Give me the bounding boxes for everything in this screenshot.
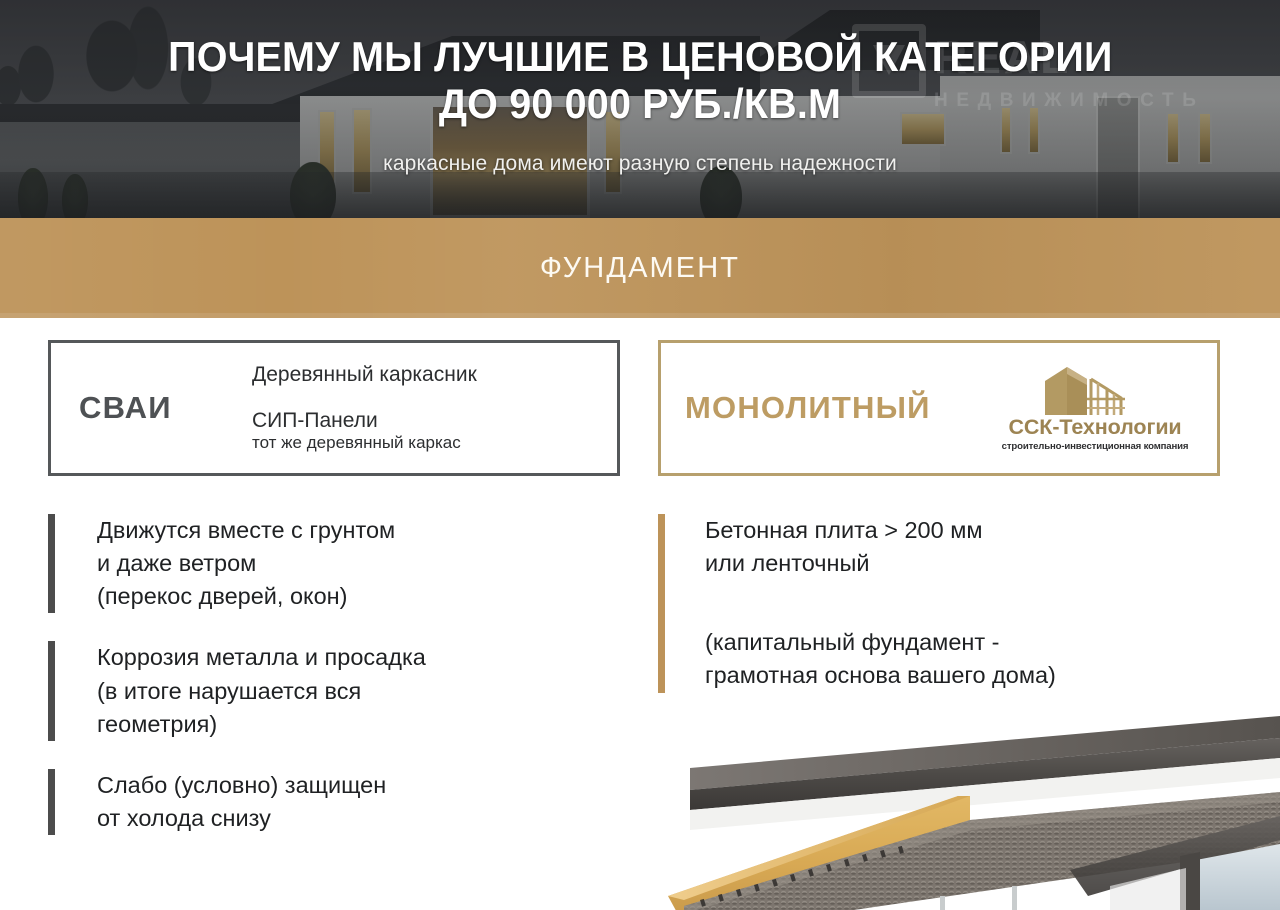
section-band-foundation: ФУНДАМЕНТ [0,218,1280,318]
list-item: Коррозия металла и просадка (в итоге нар… [48,641,620,740]
building-icon [1041,365,1129,415]
piles-header-box: СВАИ Деревянный каркасник СИП-Панели тот… [48,340,620,476]
monolithic-header-box: МОНОЛИТНЫЙ [658,340,1220,476]
piles-bullet-text: Движутся вместе с грунтом и даже ветром … [97,514,395,613]
company-logo-name: ССК-Технологии [989,415,1201,440]
bullet-bar-icon [48,641,55,740]
bullet-bar-icon [48,514,55,613]
piles-bullet-list: Движутся вместе с грунтом и даже ветром … [48,514,620,863]
company-logo-tagline: строительно-инвестиционная компания [989,441,1201,452]
list-item: Движутся вместе с грунтом и даже ветром … [48,514,620,613]
piles-title: СВАИ [79,390,244,426]
monolithic-bullet-text: Бетонная плита > 200 мм или ленточный [705,514,1056,580]
list-item: Слабо (условно) защищен от холода снизу [48,769,620,835]
monolithic-bullet-texts: Бетонная плита > 200 мм или ленточный (к… [705,514,1056,693]
monolithic-title: МОНОЛИТНЫЙ [685,390,931,426]
hero-banner: REAL НЕДВИЖИМОСТЬ ПОЧЕМУ МЫ ЛУЧШИЕ В ЦЕН… [0,0,1280,218]
piles-type-1: Деревянный каркасник [252,363,477,386]
bullet-bar-icon [48,769,55,835]
comparison-columns: СВАИ Деревянный каркасник СИП-Панели тот… [0,318,1280,910]
piles-type-2: СИП-Панели [252,409,477,433]
hero-title-line-1: ПОЧЕМУ МЫ ЛУЧШИЕ В ЦЕНОВОЙ КАТЕГОРИИ [168,33,1112,80]
monolithic-bullet-text: (капитальный фундамент - грамотная основ… [705,626,1056,692]
bullet-bar-icon [658,514,665,693]
hero-text-block: ПОЧЕМУ МЫ ЛУЧШИЕ В ЦЕНОВОЙ КАТЕГОРИИ ДО … [0,0,1280,218]
hero-subtitle: каркасные дома имеют разную степень наде… [383,152,897,176]
piles-bullet-text: Коррозия металла и просадка (в итоге нар… [97,641,426,740]
piles-type-2-note: тот же деревянный каркас [252,433,477,453]
monolithic-bullet-list: Бетонная плита > 200 мм или ленточный (к… [658,514,1056,693]
hero-title-line-2: ДО 90 000 РУБ./КВ.М [439,80,841,127]
piles-header-lines: Деревянный каркасник СИП-Панели тот же д… [252,363,477,454]
company-logo: ССК-Технологии строительно-инвестиционна… [989,365,1201,459]
section-band-title: ФУНДАМЕНТ [540,252,740,285]
infographic-page: REAL НЕДВИЖИМОСТЬ ПОЧЕМУ МЫ ЛУЧШИЕ В ЦЕН… [0,0,1280,910]
piles-bullet-text: Слабо (условно) защищен от холода снизу [97,769,386,835]
